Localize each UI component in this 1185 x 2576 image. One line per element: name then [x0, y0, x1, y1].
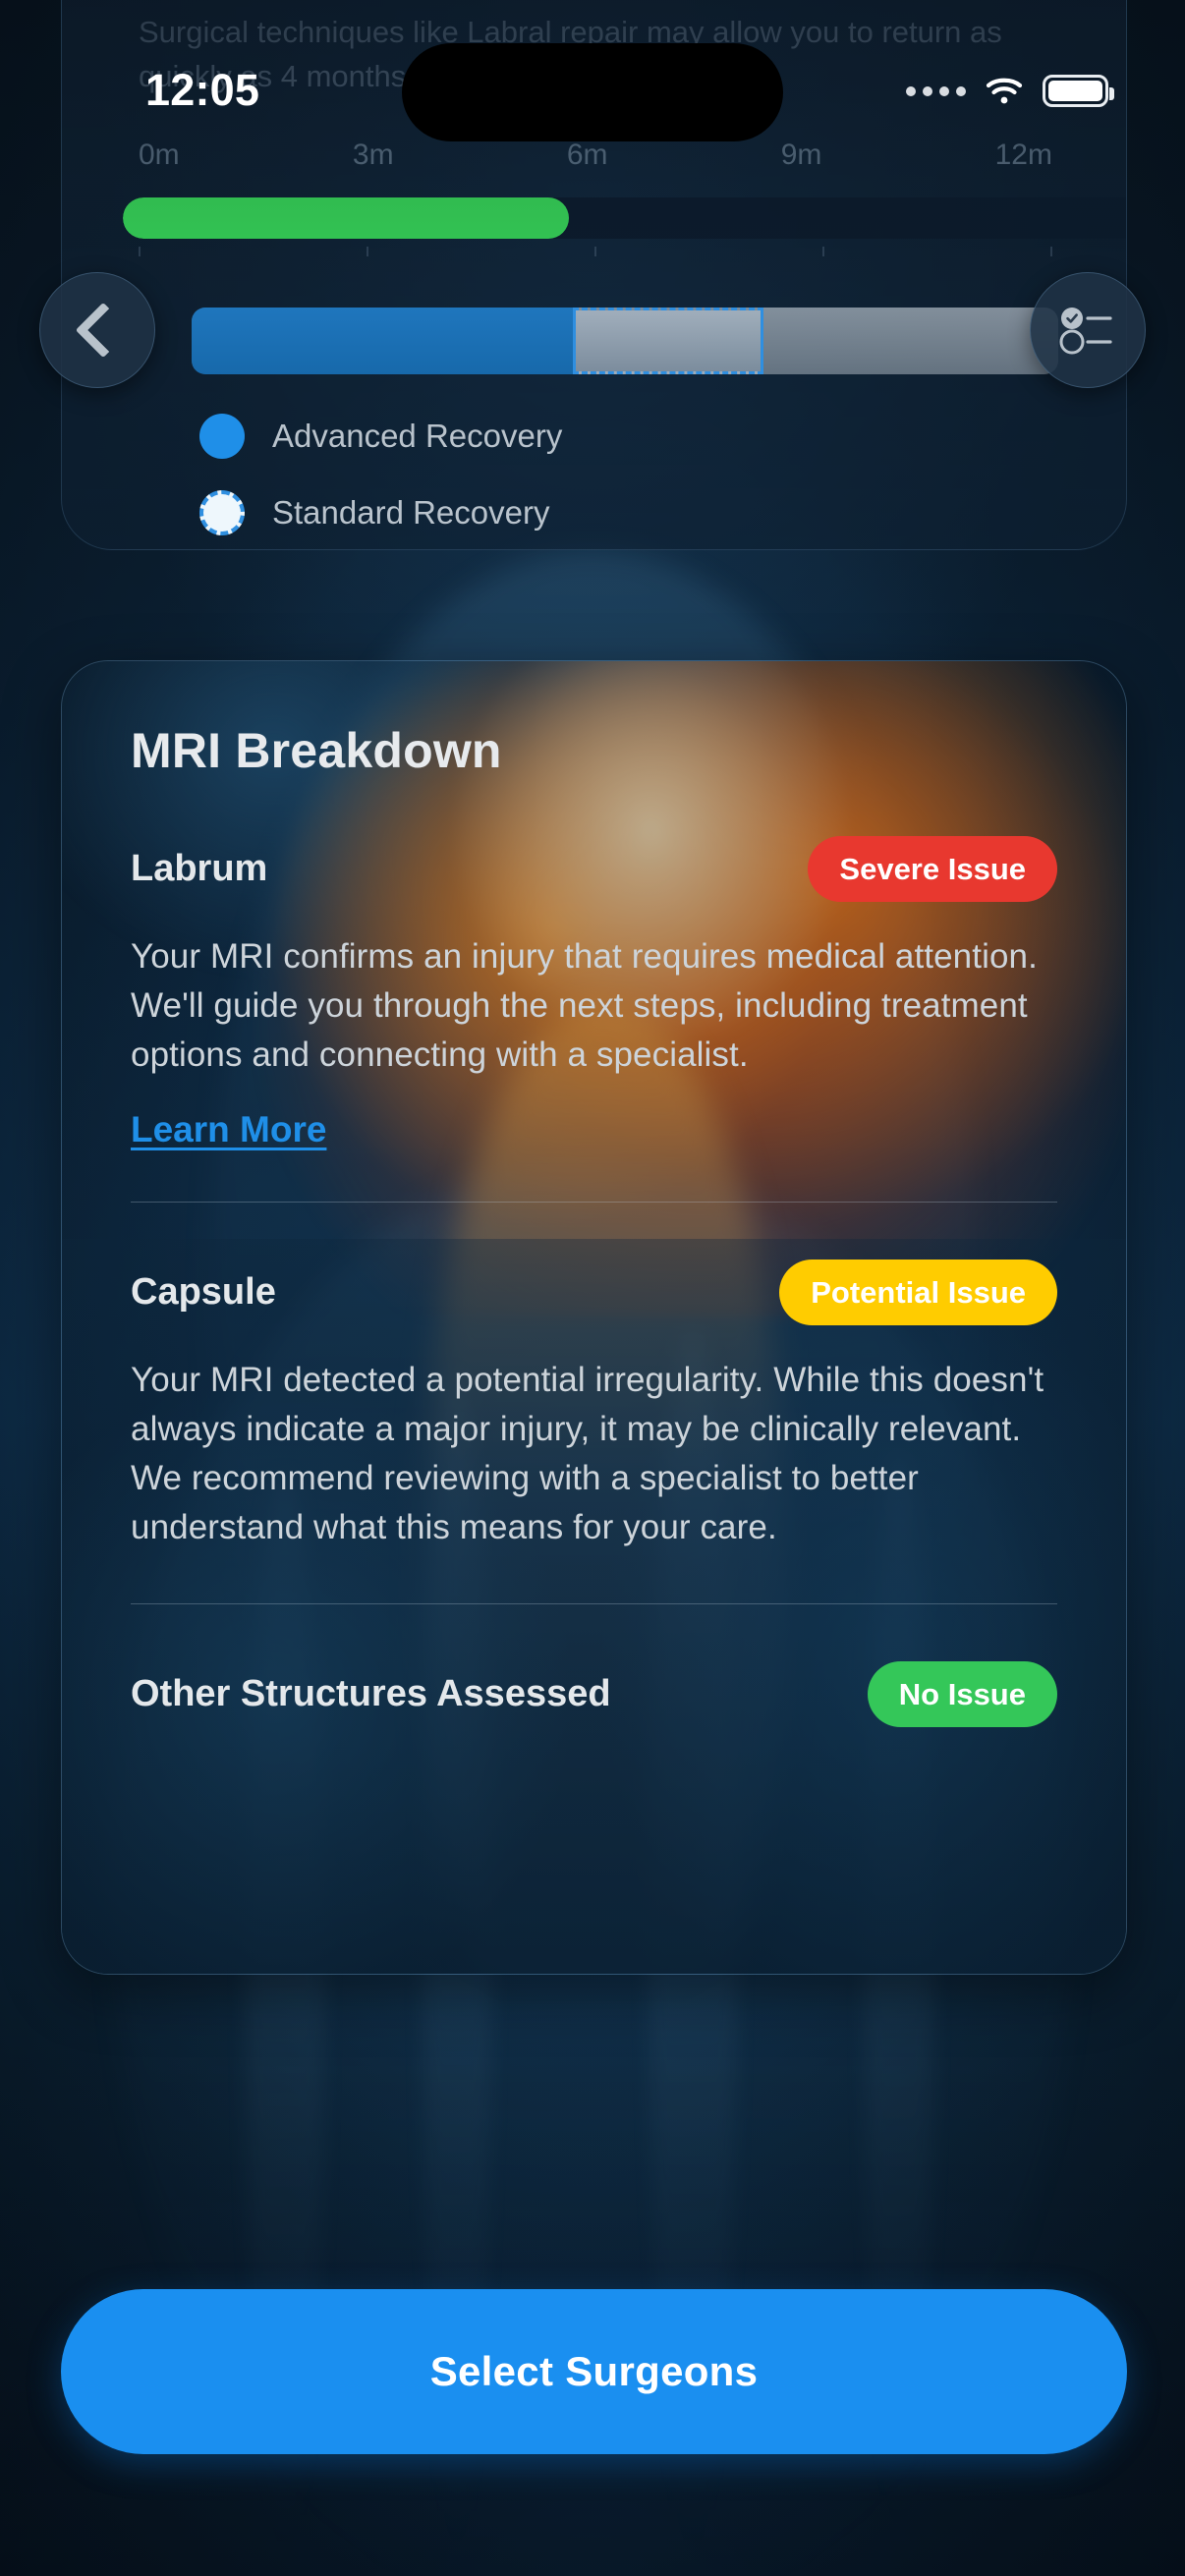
status-badge: Potential Issue	[779, 1260, 1057, 1325]
status-bar-icons	[906, 75, 1108, 107]
status-bar: 12:05	[0, 0, 1185, 147]
tick-mark	[367, 247, 368, 256]
legend-dot-icon	[199, 414, 245, 459]
section-header: Labrum Severe Issue	[131, 830, 1057, 907]
select-surgeons-label: Select Surgeons	[430, 2348, 759, 2395]
learn-more-link[interactable]: Learn More	[131, 1109, 326, 1150]
section-title: Capsule	[131, 1271, 276, 1314]
tick-mark	[1050, 247, 1052, 256]
mri-section-capsule: Capsule Potential Issue Your MRI detecte…	[131, 1254, 1057, 1552]
section-divider	[131, 1603, 1057, 1604]
status-badge: Severe Issue	[808, 836, 1057, 902]
segment-standard-selected	[573, 308, 763, 374]
checklist-button[interactable]	[1030, 272, 1146, 388]
legend-label: Standard Recovery	[272, 494, 549, 532]
section-title: Other Structures Assessed	[131, 1673, 611, 1715]
segment-advanced	[192, 308, 573, 374]
legend-label: Advanced Recovery	[272, 418, 562, 455]
section-divider	[131, 1202, 1057, 1203]
select-surgeons-button[interactable]: Select Surgeons	[61, 2289, 1127, 2454]
section-body-text: Your MRI confirms an injury that require…	[131, 932, 1054, 1080]
battery-icon	[1043, 75, 1108, 107]
legend-item-advanced[interactable]: Advanced Recovery	[199, 414, 562, 459]
mri-section-other-structures: Other Structures Assessed No Issue	[131, 1655, 1057, 1732]
mri-breakdown-card: MRI Breakdown Labrum Severe Issue Your M…	[61, 660, 1127, 1975]
back-button[interactable]	[39, 272, 155, 388]
status-bar-time: 12:05	[145, 65, 259, 116]
section-header: Capsule Potential Issue	[131, 1254, 1057, 1330]
legend-dot-icon	[199, 490, 245, 535]
recovery-legend: Advanced Recovery Standard Recovery	[199, 414, 562, 550]
segment-remaining	[763, 308, 1058, 374]
status-badge: No Issue	[868, 1661, 1057, 1727]
signal-dots-icon	[906, 86, 966, 96]
progress-bar-track	[123, 197, 1127, 239]
tick-mark	[139, 247, 141, 256]
section-title: Labrum	[131, 848, 267, 890]
page-title: MRI Breakdown	[131, 722, 1057, 779]
mri-section-labrum: Labrum Severe Issue Your MRI confirms an…	[131, 830, 1057, 1150]
legend-item-standard[interactable]: Standard Recovery	[199, 490, 562, 535]
chevron-left-icon	[76, 303, 132, 359]
tick-mark	[822, 247, 824, 256]
recovery-segment-bar[interactable]	[192, 308, 1058, 374]
section-body-text: Your MRI detected a potential irregulari…	[131, 1356, 1054, 1552]
checklist-icon	[1059, 306, 1116, 355]
dynamic-island	[402, 43, 783, 141]
timeline-ticks	[139, 247, 1052, 256]
section-header: Other Structures Assessed No Issue	[131, 1655, 1057, 1732]
wifi-icon	[985, 77, 1024, 106]
progress-bar-fill	[123, 197, 569, 239]
tick-mark	[594, 247, 596, 256]
